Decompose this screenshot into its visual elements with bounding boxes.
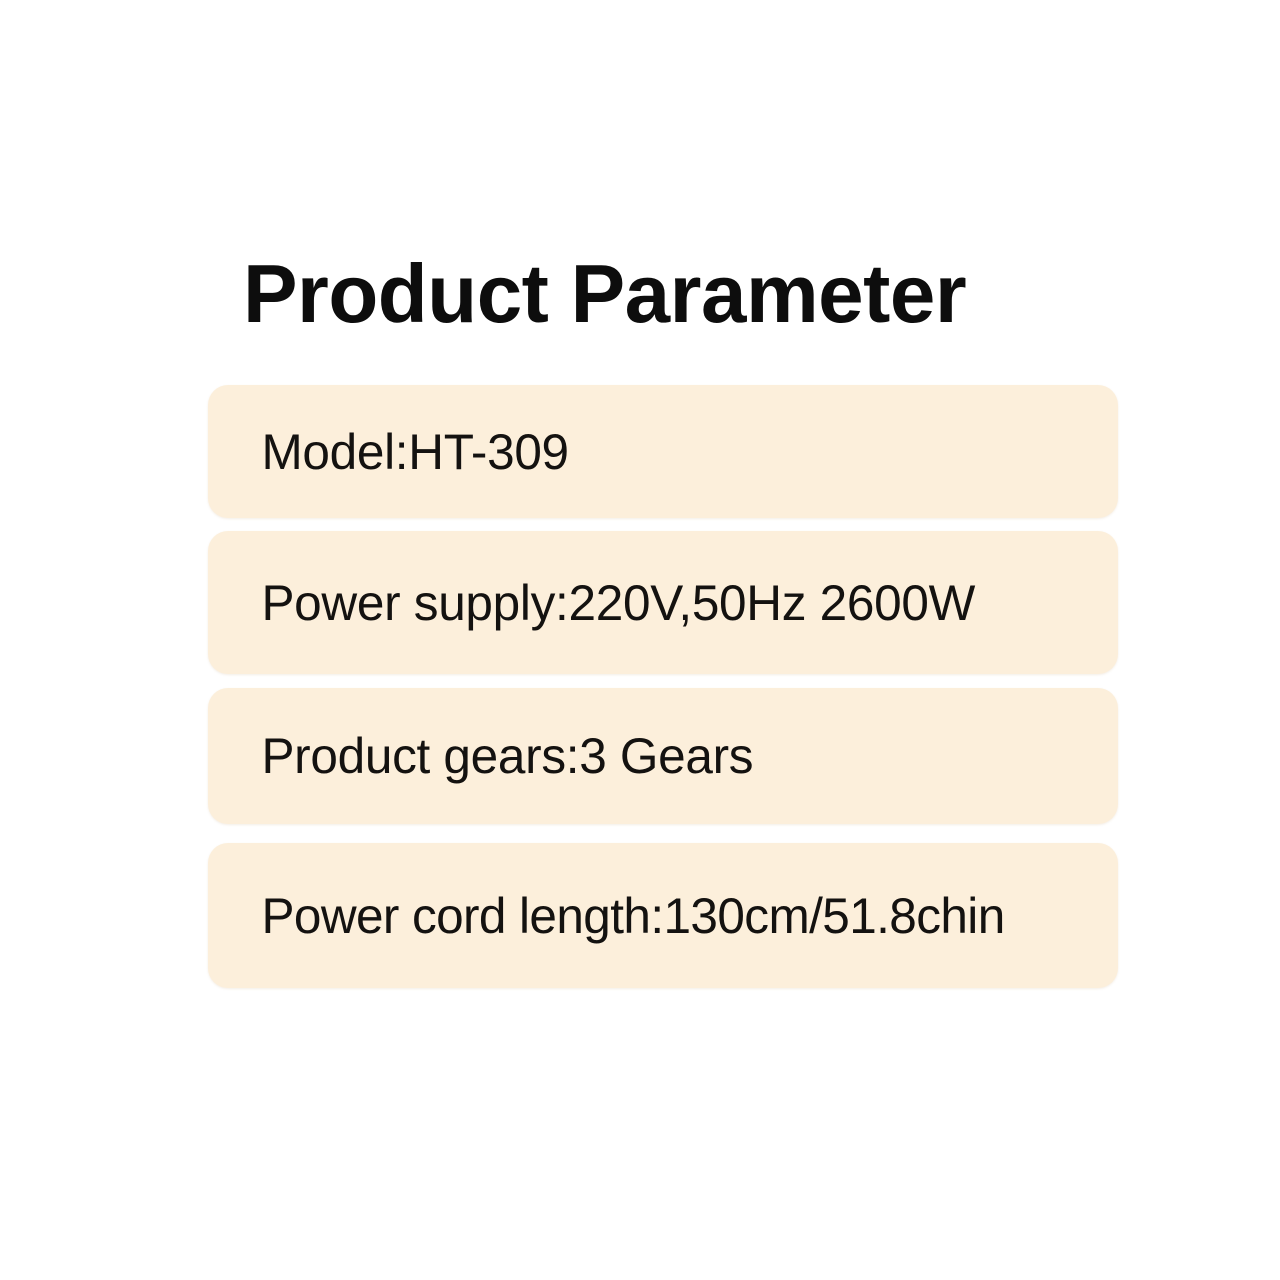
spec-text-product-gears: Product gears:3 Gears xyxy=(208,727,771,785)
spec-text-power-cord-length: Power cord length:130cm/51.8chin xyxy=(208,887,1022,945)
spec-card-power-supply: Power supply:220V,50Hz 2600W xyxy=(208,531,1118,674)
spec-text-model: Model:HT-309 xyxy=(208,423,587,481)
spec-card-power-cord-length: Power cord length:130cm/51.8chin xyxy=(208,843,1118,988)
spec-card-model: Model:HT-309 xyxy=(208,385,1118,518)
spec-text-power-supply: Power supply:220V,50Hz 2600W xyxy=(208,574,993,632)
spec-list: Model:HT-309 Power supply:220V,50Hz 2600… xyxy=(208,385,1118,988)
spec-card-product-gears: Product gears:3 Gears xyxy=(208,688,1118,824)
product-parameter-page: Product Parameter Model:HT-309 Power sup… xyxy=(0,0,1280,1280)
page-title: Product Parameter xyxy=(243,251,1090,337)
